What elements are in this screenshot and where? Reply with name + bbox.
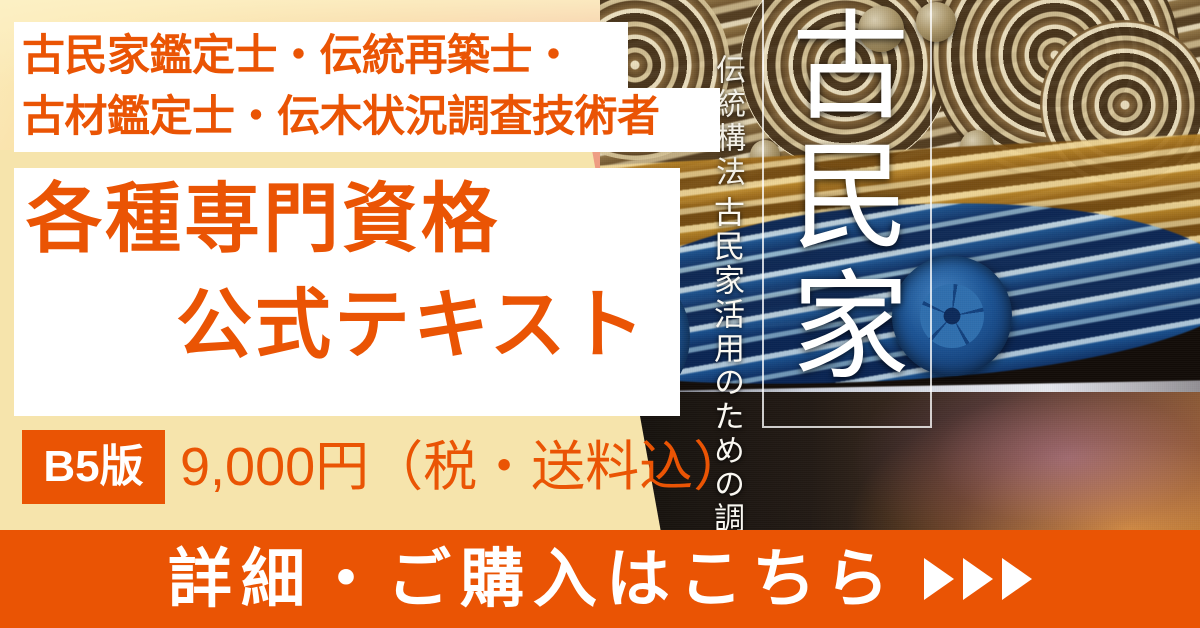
qualifications-line-2: 古材鑑定士・伝木状況調査技術者 bbox=[22, 87, 722, 148]
headline-line-2: 公式テキスト bbox=[176, 288, 648, 364]
headline-line-1: 各種専門資格 bbox=[26, 182, 500, 258]
qualifications-text: 古民家鑑定士・伝統再築士・ 古材鑑定士・伝木状況調査技術者 bbox=[22, 26, 722, 148]
qualifications-line-1: 古民家鑑定士・伝統再築士・ bbox=[22, 26, 722, 87]
play-arrow-icon bbox=[924, 558, 954, 600]
promo-banner: 伝統構法 古民家 古民家活用のための調査と再生の 古民家鑑定士・伝統再築士・ 古… bbox=[0, 0, 1200, 628]
book-title: 古民家 bbox=[788, 4, 908, 394]
cta-arrows bbox=[924, 558, 1032, 600]
format-badge: B5版 bbox=[22, 430, 165, 504]
cta-label: 詳細・ご購入はこちら bbox=[168, 547, 898, 611]
play-arrow-icon bbox=[963, 558, 993, 600]
play-arrow-icon bbox=[1002, 558, 1032, 600]
cta-button[interactable]: 詳細・ご購入はこちら bbox=[0, 530, 1200, 628]
price-text: 9,000円（税・送料込） bbox=[180, 434, 747, 500]
format-badge-label: B5版 bbox=[43, 445, 143, 489]
